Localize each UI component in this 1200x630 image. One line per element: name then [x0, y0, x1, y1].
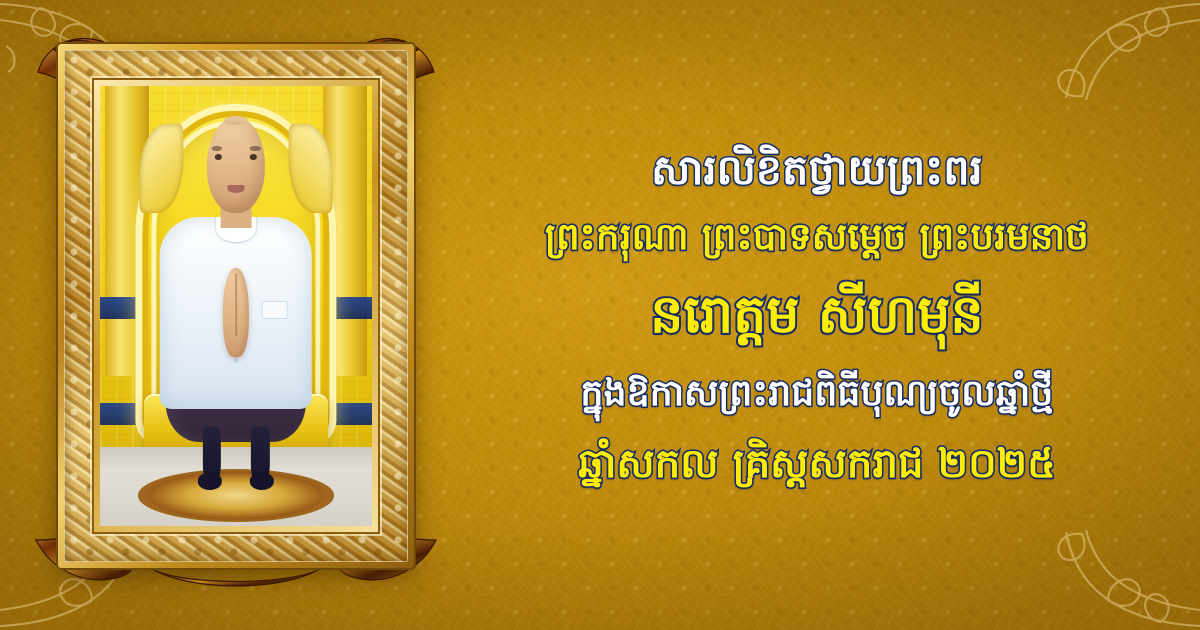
king-mouth: [228, 185, 245, 193]
king-portrait-photo: [100, 86, 372, 526]
king-head: [207, 117, 265, 213]
frame-outer-moulding: [58, 44, 414, 568]
sampeah-hands: [223, 268, 249, 357]
greeting-line-1: សារលិខិតថ្វាយព្រះពរ: [651, 144, 983, 196]
royal-portrait-frame: [36, 22, 436, 598]
greeting-text-block: សារលិខិតថ្វាយព្រះពរ ព្រះករុណា ព្រះបាទសម្…: [452, 0, 1182, 630]
jacket-pocket: [261, 301, 287, 318]
king-figure: [160, 117, 312, 487]
royal-name: នរោត្តម សីហមុនី: [650, 282, 983, 349]
greeting-line-4: ក្នុងឱកាសព្រះរាជពិធីបុណ្យចូលឆ្នាំថ្មី: [581, 371, 1054, 417]
banner-root: សារលិខិតថ្វាយព្រះពរ ព្រះករុណា ព្រះបាទសម្…: [0, 0, 1200, 630]
greeting-line-5: ឆ្នាំសកល គ្រិស្តសករាជ ២០២៥: [578, 439, 1056, 490]
greeting-line-2: ព្រះករុណា ព្រះបាទសម្ដេច ព្រះបរមនាថ: [545, 213, 1089, 260]
king-hair: [225, 116, 248, 125]
king-eyebrow: [250, 146, 261, 150]
